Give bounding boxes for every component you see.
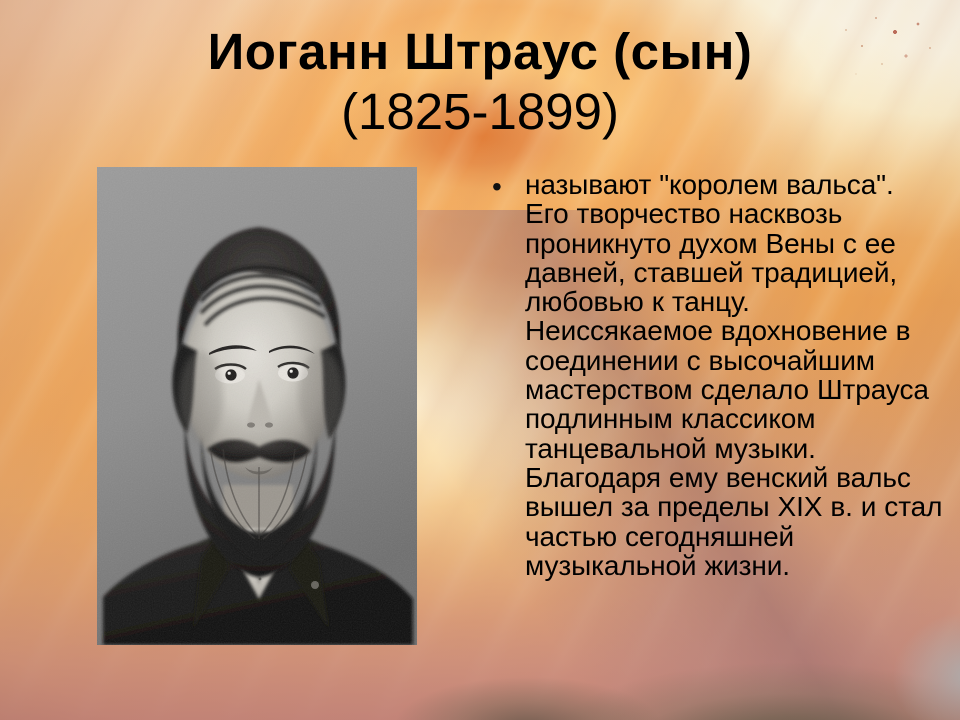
slide-title: Иоганн Штраус (сын) (1825-1899) <box>40 26 920 137</box>
page-title: Иоганн Штраус (сын) <box>40 26 920 77</box>
list-item: • называют "королем вальса". Его творчес… <box>492 170 944 580</box>
bullet-icon: • <box>492 170 525 201</box>
portrait-film-grain <box>97 167 417 645</box>
page-subtitle-dates: (1825-1899) <box>40 86 920 137</box>
bullet-paragraph: называют "королем вальса". Его творчеств… <box>525 170 944 580</box>
portrait-image <box>97 167 417 645</box>
content-body: • называют "королем вальса". Его творчес… <box>492 170 944 580</box>
portrait-illustration <box>97 167 417 645</box>
slide-canvas: Иоганн Штраус (сын) (1825-1899) <box>0 0 960 720</box>
